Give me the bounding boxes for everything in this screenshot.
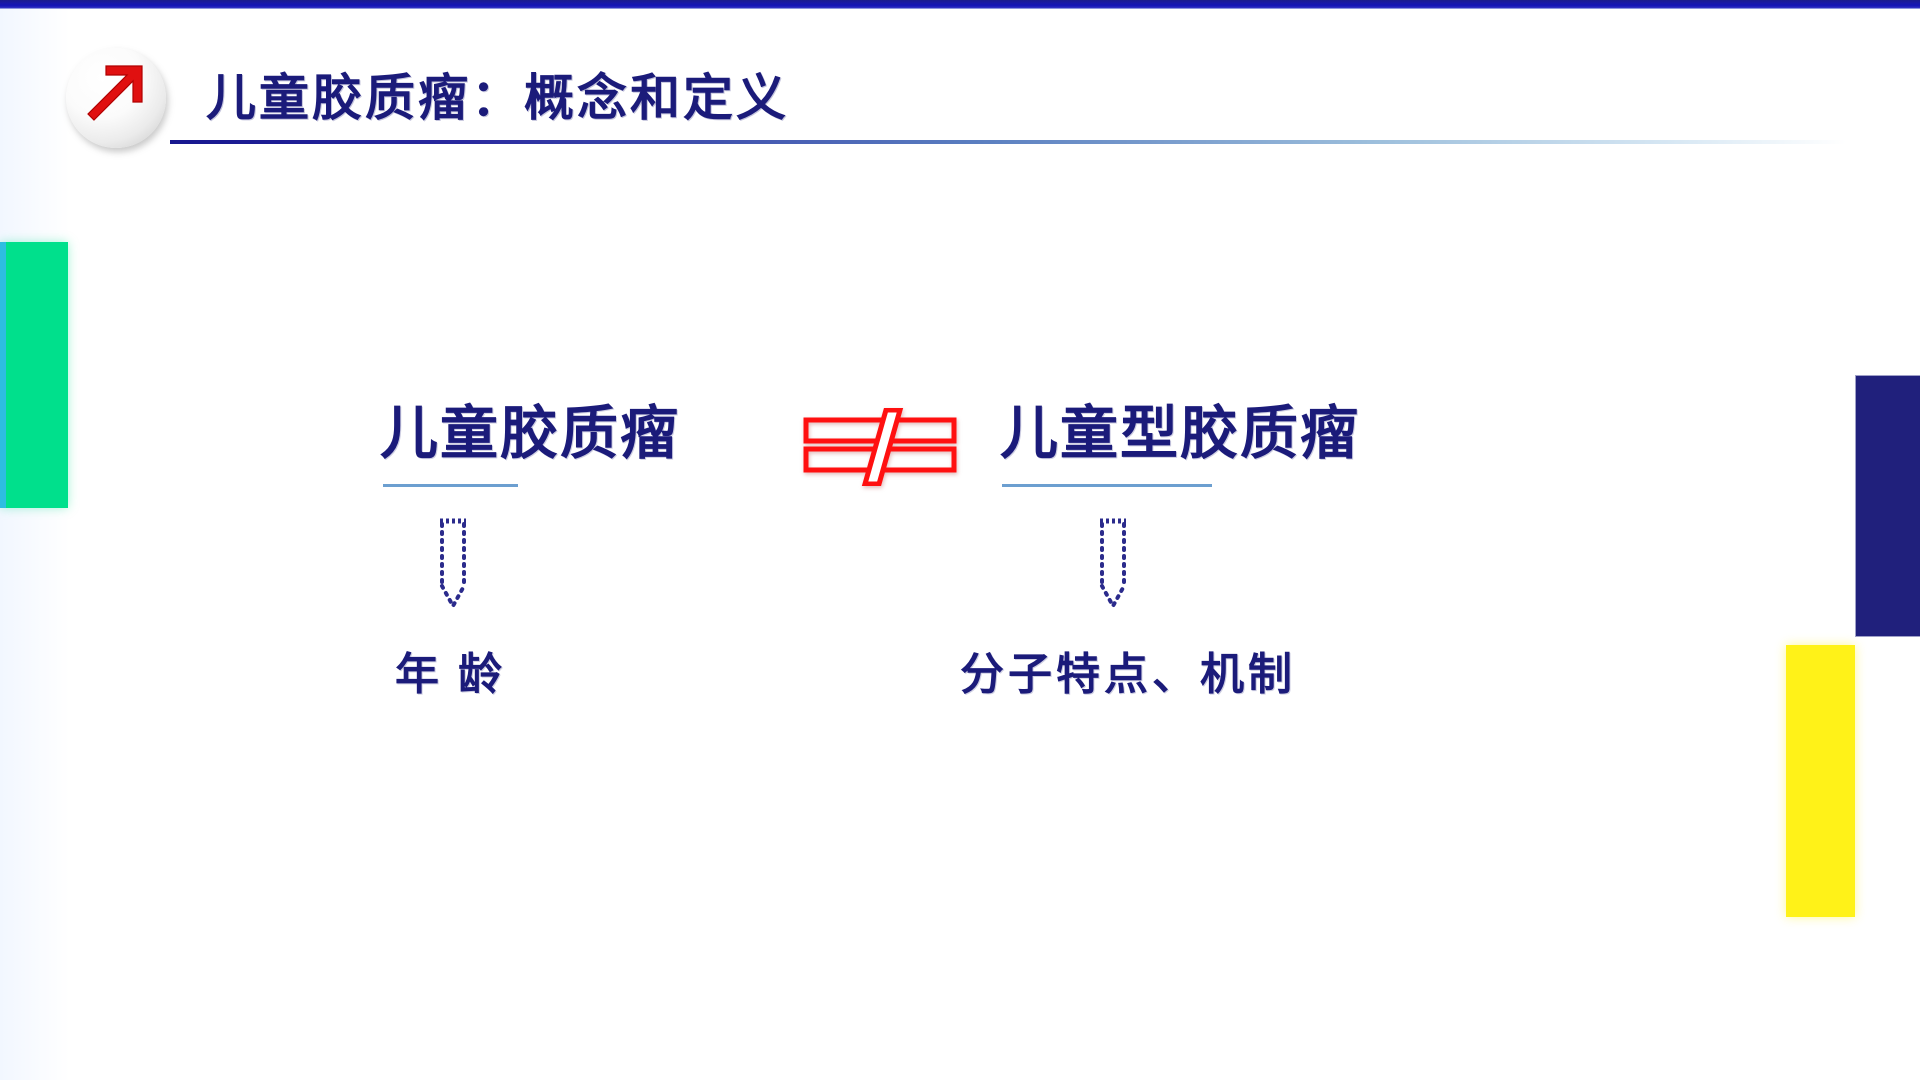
presentation-slide: 儿童胶质瘤：概念和定义 儿童胶质瘤 儿童型胶质瘤: [0, 0, 1920, 1080]
right-term-underline: [1002, 484, 1212, 487]
right-term-label: 儿童型胶质瘤: [1000, 400, 1360, 468]
not-equal-icon: [800, 408, 960, 486]
left-term-underline: [383, 484, 518, 487]
dotted-down-arrow-icon-left: [425, 518, 481, 612]
dotted-down-arrow-icon-right: [1085, 518, 1141, 612]
left-term-label: 儿童胶质瘤: [380, 400, 680, 468]
right-leaf-label: 分子特点、机制: [960, 648, 1296, 702]
left-leaf-label: 年 龄: [395, 648, 506, 702]
concept-diagram: 儿童胶质瘤 儿童型胶质瘤: [0, 0, 1920, 1080]
